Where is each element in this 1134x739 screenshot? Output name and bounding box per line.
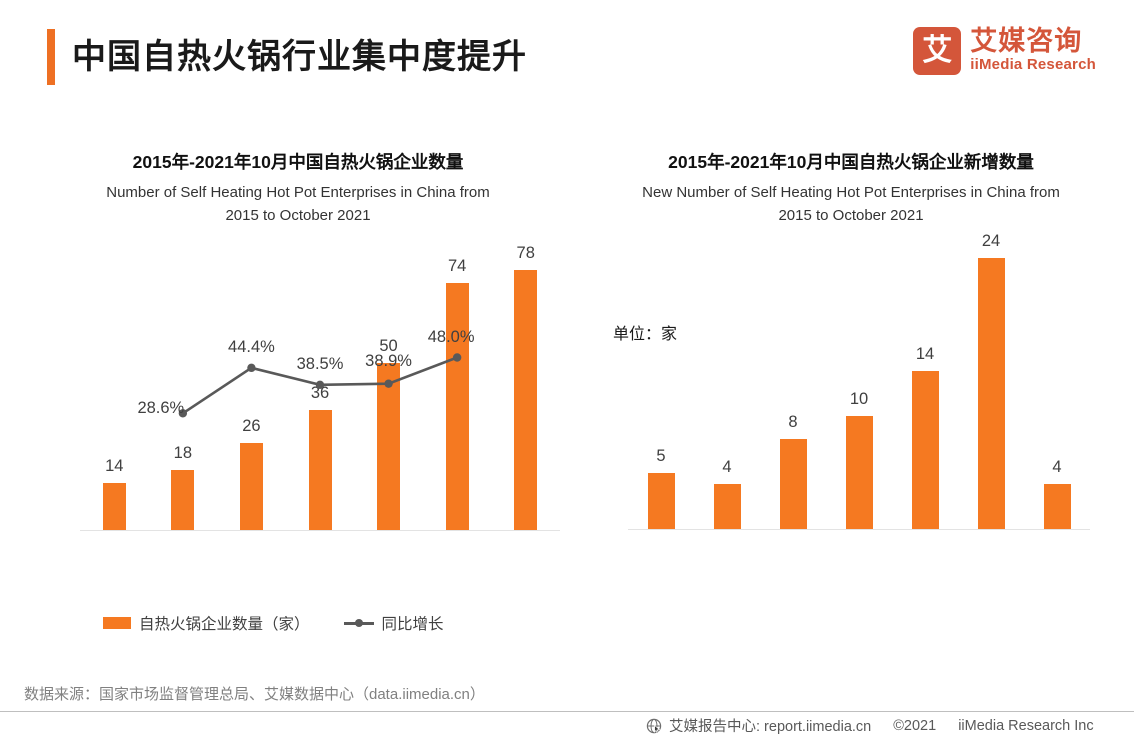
logo-mark-icon: 艾 [913, 27, 961, 75]
legend-line-label: 同比增长 [382, 612, 444, 634]
bar-2016[interactable] [714, 484, 741, 529]
bar-2015[interactable] [103, 483, 126, 530]
bar-value-label: 78 [486, 244, 566, 263]
bar-value-label: 36 [280, 384, 360, 403]
bar-value-label: 4 [687, 458, 767, 477]
bar-2021.10[interactable] [514, 270, 537, 530]
footer-report-center[interactable]: 艾媒报告中心: report.iimedia.cn [669, 715, 871, 736]
bar-2016[interactable] [171, 470, 194, 530]
bar-2019[interactable] [377, 363, 400, 530]
logo-brand-cn: 艾媒咨询 [970, 27, 1096, 55]
left-chart-panel: 2015年-2021年10月中国自热火锅企业数量 Number of Self … [18, 150, 578, 670]
bar-value-label: 8 [753, 413, 833, 432]
bar-2020[interactable] [446, 283, 469, 530]
growth-value-label: 38.9% [344, 352, 434, 371]
bar-2018[interactable] [309, 410, 332, 530]
page-footer: 艾媒报告中心: report.iimedia.cn ©2021 iiMedia … [0, 711, 1134, 738]
bar-value-label: 4 [1017, 458, 1097, 477]
footer-company: iiMedia Research Inc [958, 718, 1093, 734]
legend-bar-label: 自热火锅企业数量（家） [139, 612, 310, 634]
left-chart-plot: 1418263650747828.6%44.4%38.5%38.9%48.0% [18, 150, 578, 670]
bar-value-label: 26 [211, 417, 291, 436]
growth-line-series [18, 150, 578, 670]
bar-2018[interactable] [846, 416, 873, 529]
bar-value-label: 10 [819, 390, 899, 409]
growth-value-label: 48.0% [406, 328, 496, 347]
chart-axis-line [80, 530, 560, 531]
brand-logo: 艾 艾媒咨询 iiMedia Research [913, 27, 1096, 75]
bar-2020[interactable] [978, 258, 1005, 529]
logo-brand-en: iiMedia Research [970, 56, 1096, 75]
title-accent-bar [47, 29, 55, 85]
unit-label: 单位：家 [613, 320, 677, 344]
legend-item-line: 同比增长 [344, 612, 444, 634]
legend-line-swatch-icon [344, 617, 374, 629]
chart-axis-line [628, 529, 1090, 530]
logo-text: 艾媒咨询 iiMedia Research [970, 27, 1096, 74]
page-header: 中国自热火锅行业集中度提升 艾 艾媒咨询 iiMedia Research [0, 0, 1134, 110]
right-chart-plot: 5481014244单位：家 [586, 150, 1116, 670]
chart-legend: 自热火锅企业数量（家） 同比增长 [103, 612, 444, 634]
bar-value-label: 14 [885, 345, 965, 364]
bar-2017[interactable] [240, 443, 263, 530]
globe-cursor-icon [646, 718, 663, 735]
bar-2017[interactable] [780, 439, 807, 529]
right-chart-panel: 2015年-2021年10月中国自热火锅企业新增数量 New Number of… [586, 150, 1116, 670]
source-note: 数据来源：国家市场监督管理总局、艾媒数据中心（data.iimedia.cn） [24, 683, 485, 704]
bar-2015[interactable] [648, 473, 675, 529]
bar-2021.10[interactable] [1044, 484, 1071, 529]
growth-value-label: 28.6% [116, 399, 206, 418]
bar-value-label: 18 [143, 444, 223, 463]
page-title: 中国自热火锅行业集中度提升 [72, 29, 527, 85]
bar-value-label: 24 [951, 232, 1031, 251]
footer-copyright: ©2021 [893, 718, 936, 734]
footer-content: 艾媒报告中心: report.iimedia.cn ©2021 iiMedia … [646, 715, 1094, 736]
legend-bar-swatch-icon [103, 617, 131, 629]
legend-item-bar: 自热火锅企业数量（家） [103, 612, 310, 634]
bar-2019[interactable] [912, 371, 939, 529]
